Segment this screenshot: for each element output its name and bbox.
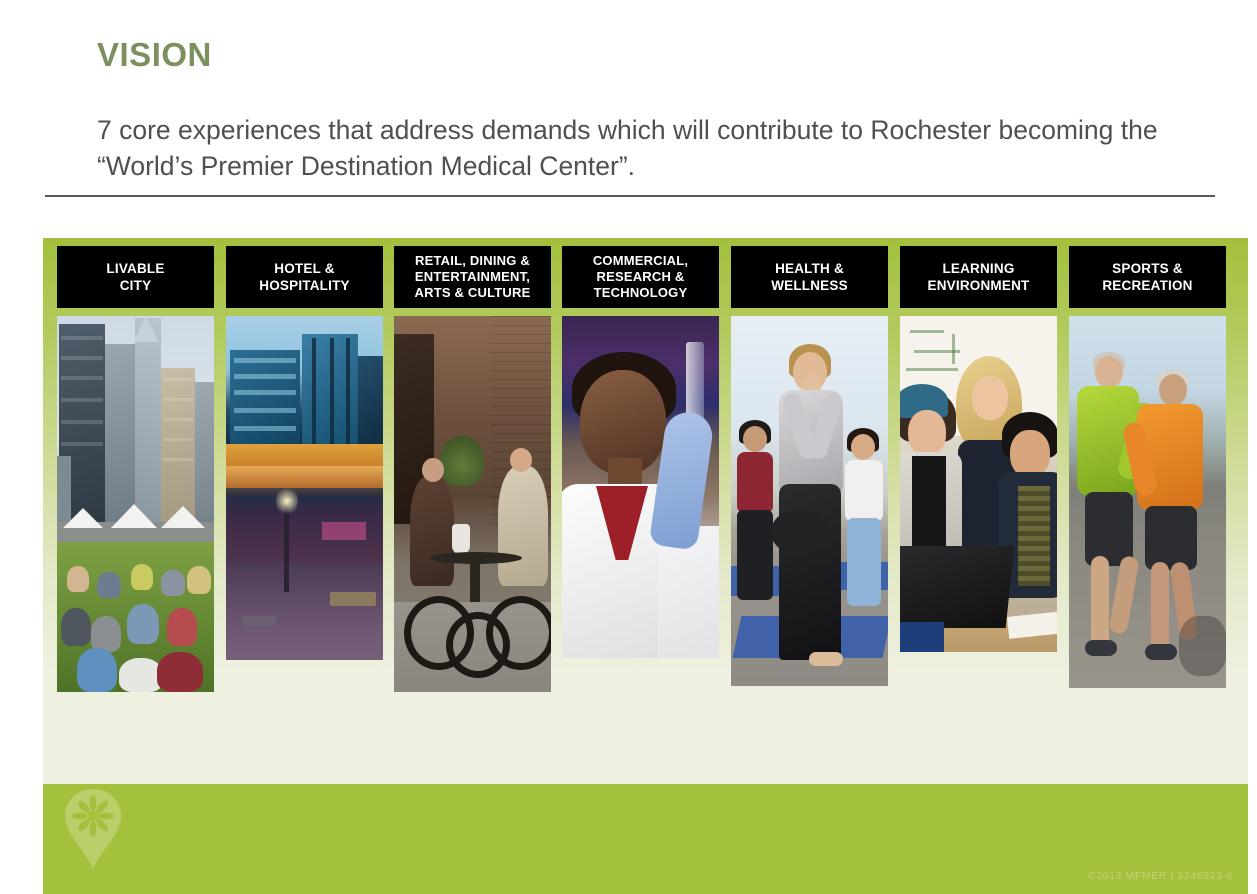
page-title: VISION xyxy=(97,36,212,74)
mayo-clinic-pin-logo xyxy=(63,788,123,870)
experience-column-learning-environment[interactable]: LEARNING ENVIRONMENT xyxy=(900,246,1057,652)
building-shape xyxy=(195,382,214,528)
person-head xyxy=(1159,374,1187,406)
photo-sports-recreation xyxy=(1069,316,1226,688)
whiteboard-writing xyxy=(910,330,944,333)
person-figure xyxy=(187,566,211,594)
striped-shirt xyxy=(1018,486,1050,586)
window-band xyxy=(61,336,103,340)
building-shape xyxy=(161,368,195,528)
window-band xyxy=(163,458,193,461)
book xyxy=(900,622,944,652)
running-shorts xyxy=(1085,492,1133,566)
person-figure xyxy=(157,652,203,692)
person-figure xyxy=(498,466,548,586)
window-band xyxy=(61,356,103,360)
column-header-label: RETAIL, DINING & ENTERTAINMENT, ARTS & C… xyxy=(394,246,551,308)
person-figure xyxy=(67,566,89,592)
window-band xyxy=(61,398,103,402)
footer-band xyxy=(43,784,1248,894)
person-figure xyxy=(733,426,777,586)
laptop xyxy=(900,546,1014,628)
column-header-label: LIVABLE CITY xyxy=(57,246,214,308)
lobby-reflection xyxy=(226,466,383,496)
person-figure xyxy=(167,608,197,646)
street-lamp-glow xyxy=(276,486,298,516)
chair-scrollwork xyxy=(446,612,510,678)
person-pants xyxy=(737,510,773,600)
hotel-facade xyxy=(358,356,383,446)
photo-learning-environment xyxy=(900,316,1057,652)
window-mullion xyxy=(312,338,316,444)
window-band xyxy=(163,418,193,421)
window-band xyxy=(61,376,103,380)
running-shoe xyxy=(1145,644,1177,660)
bench xyxy=(242,616,276,626)
building-shape xyxy=(105,344,135,526)
pavement-shadow xyxy=(1179,616,1226,676)
person-leg xyxy=(1091,556,1109,648)
window-band xyxy=(163,378,193,381)
storefront-sign xyxy=(322,522,366,540)
column-header-label: COMMERCIAL, RESEARCH & TECHNOLOGY xyxy=(562,246,719,308)
person-figure xyxy=(1129,374,1209,644)
person-face xyxy=(908,410,946,456)
person-head xyxy=(851,434,875,460)
table-vase xyxy=(452,524,470,554)
experience-column-hotel-hospitality[interactable]: HOTEL & HOSPITALITY xyxy=(226,246,383,660)
bent-leg xyxy=(771,512,831,552)
photo-health-wellness xyxy=(731,316,888,686)
person-top xyxy=(845,460,883,522)
person-figure xyxy=(61,608,91,646)
slide-subtitle: 7 core experiences that address demands … xyxy=(97,112,1227,184)
whiteboard-writing xyxy=(906,368,958,371)
column-header-label: HEALTH & WELLNESS xyxy=(731,246,888,308)
person-pants xyxy=(779,484,841,660)
person-figure xyxy=(77,648,117,692)
photo-commercial-research xyxy=(562,316,719,658)
title-block: VISION 7 core experiences that address d… xyxy=(0,0,1257,215)
window-band xyxy=(234,358,296,363)
window-band xyxy=(163,438,193,441)
window-band xyxy=(61,442,103,446)
hotel-facade xyxy=(230,350,300,446)
person-figure xyxy=(131,564,153,590)
window-band xyxy=(163,398,193,401)
window-band xyxy=(61,420,103,424)
bench xyxy=(330,592,376,606)
bare-foot xyxy=(809,652,843,666)
person-head xyxy=(1095,356,1123,388)
person-figure xyxy=(97,572,121,598)
person-figure xyxy=(843,434,887,584)
person-figure xyxy=(161,570,185,596)
photo-retail-dining xyxy=(394,316,551,692)
photo-hotel-hospitality xyxy=(226,316,383,660)
person-figure xyxy=(900,390,962,570)
person-head xyxy=(743,426,767,452)
window-mullion xyxy=(330,338,334,444)
person-leg xyxy=(1151,562,1169,652)
experience-column-livable-city[interactable]: LIVABLE CITY xyxy=(57,246,214,692)
person-pants xyxy=(847,518,881,606)
window-band xyxy=(234,374,296,379)
person-figure xyxy=(410,476,454,586)
person-face xyxy=(1010,430,1050,478)
experience-column-commercial-research[interactable]: COMMERCIAL, RESEARCH & TECHNOLOGY xyxy=(562,246,719,658)
person-head xyxy=(422,458,444,482)
street-surface xyxy=(226,562,383,660)
window-band xyxy=(234,426,296,431)
running-shoe xyxy=(1085,640,1117,656)
person-top xyxy=(737,452,773,514)
building-shape xyxy=(135,318,161,528)
photo-livable-city xyxy=(57,316,214,692)
column-header-label: HOTEL & HOSPITALITY xyxy=(226,246,383,308)
window-mullion xyxy=(346,338,350,444)
column-header-label: SPORTS & RECREATION xyxy=(1069,246,1226,308)
building-shape xyxy=(57,456,71,528)
window-band xyxy=(234,408,296,413)
title-divider xyxy=(45,195,1215,197)
planter-foliage xyxy=(440,436,484,486)
window-band xyxy=(234,390,296,395)
column-header-label: LEARNING ENVIRONMENT xyxy=(900,246,1057,308)
experience-column-retail-dining[interactable]: RETAIL, DINING & ENTERTAINMENT, ARTS & C… xyxy=(394,246,551,692)
experience-column-sports-recreation[interactable]: SPORTS & RECREATION xyxy=(1069,246,1226,688)
person-figure xyxy=(127,604,159,644)
experience-column-health-wellness[interactable]: HEALTH & WELLNESS xyxy=(731,246,888,686)
running-shorts xyxy=(1145,506,1197,570)
person-head xyxy=(510,448,532,472)
person-figure xyxy=(91,616,121,652)
copyright-credit: ©2013 MFMER | 3246823-6 xyxy=(1088,870,1233,882)
